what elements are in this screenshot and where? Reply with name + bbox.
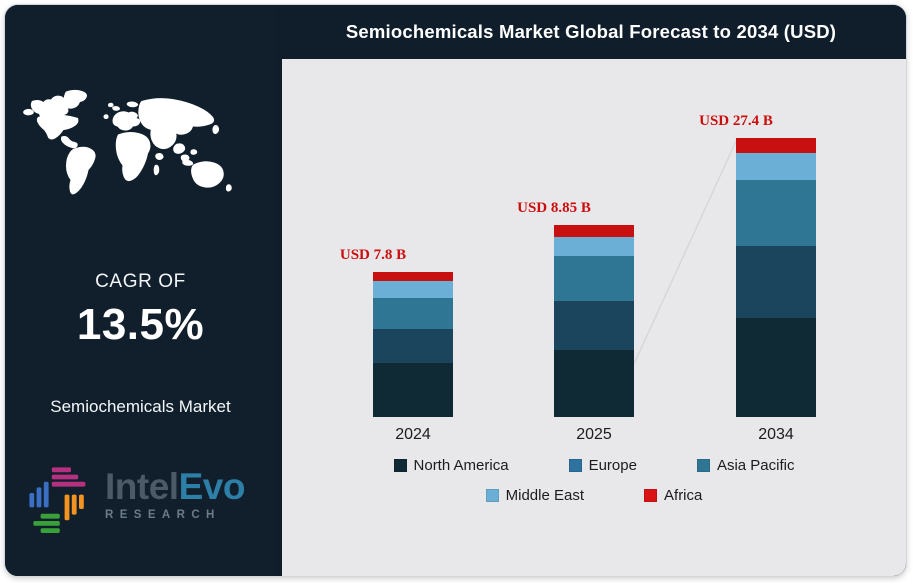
legend-swatch-middle-east [486, 489, 499, 502]
bar-segment-africa-2025[interactable] [554, 225, 634, 237]
bar-segment-africa-2034[interactable] [736, 138, 816, 153]
bar-segment-asia-pacific-2034[interactable] [736, 180, 816, 246]
bar-segment-north-america-2025[interactable] [554, 350, 634, 417]
legend-swatch-asia-pacific [697, 459, 710, 472]
intelevo-logo: IntelEvo RESEARCH [23, 455, 268, 547]
infographic-card: CAGR OF 13.5% Semiochemicals Market [4, 4, 907, 577]
logo-subtitle: RESEARCH [105, 509, 270, 521]
bar-total-label-2034: USD 27.4 B [666, 113, 806, 130]
legend-swatch-europe [569, 459, 582, 472]
legend-item-middle-east[interactable]: Middle East [486, 487, 584, 504]
chart-legend: North America Europe Asia Pacific Middle [282, 457, 906, 504]
legend-item-north-america[interactable]: North America [394, 457, 509, 474]
bar-segment-asia-pacific-2025[interactable] [554, 256, 634, 301]
cagr-value: 13.5% [5, 300, 276, 350]
bar-total-label-2025: USD 8.85 B [484, 200, 624, 217]
bar-2024[interactable] [373, 272, 453, 417]
x-axis-label-2025: 2025 [524, 426, 664, 444]
legend-item-africa[interactable]: Africa [644, 487, 702, 504]
logo-word-evo: Evo [179, 466, 245, 507]
page-title: Semiochemicals Market Global Forecast to… [276, 5, 906, 59]
bar-segment-europe-2024[interactable] [373, 329, 453, 363]
x-axis-label-2024: 2024 [343, 426, 483, 444]
legend-item-europe[interactable]: Europe [569, 457, 637, 474]
legend-label-europe: Europe [589, 457, 637, 474]
legend-swatch-africa [644, 489, 657, 502]
bar-segment-europe-2025[interactable] [554, 301, 634, 350]
bar-2034[interactable] [736, 138, 816, 417]
legend-label-asia-pacific: Asia Pacific [717, 457, 795, 474]
legend-item-asia-pacific[interactable]: Asia Pacific [697, 457, 795, 474]
bar-segment-middle-east-2025[interactable] [554, 237, 634, 256]
bar-segment-north-america-2034[interactable] [736, 318, 816, 417]
pinwheel-logo-mark-icon [23, 461, 103, 541]
logo-text: IntelEvo RESEARCH [105, 467, 270, 521]
bar-segment-north-america-2024[interactable] [373, 363, 453, 417]
logo-word-intel: Intel [105, 466, 179, 507]
world-map-icon [17, 71, 267, 219]
logo-wordmark: IntelEvo [105, 467, 270, 507]
legend-swatch-north-america [394, 459, 407, 472]
bar-segment-middle-east-2034[interactable] [736, 153, 816, 180]
bar-segment-europe-2034[interactable] [736, 246, 816, 318]
legend-label-africa: Africa [664, 487, 702, 504]
chart-panel: USD 7.8 B 2024 USD 8.85 B 2025 USD 27.4 … [282, 59, 906, 576]
legend-label-north-america: North America [414, 457, 509, 474]
stacked-bar-chart: USD 7.8 B 2024 USD 8.85 B 2025 USD 27.4 … [282, 59, 906, 576]
x-axis-label-2034: 2034 [706, 426, 846, 444]
legend-row-1: North America Europe Asia Pacific [282, 457, 906, 474]
cagr-caption: CAGR OF [5, 271, 276, 293]
bar-total-label-2024: USD 7.8 B [303, 247, 443, 264]
bar-segment-asia-pacific-2024[interactable] [373, 298, 453, 329]
legend-row-2: Middle East Africa [282, 487, 906, 504]
bar-segment-africa-2024[interactable] [373, 272, 453, 281]
bar-segment-middle-east-2024[interactable] [373, 281, 453, 298]
bar-2025[interactable] [554, 225, 634, 417]
market-name-label: Semiochemicals Market [5, 397, 276, 417]
legend-label-middle-east: Middle East [506, 487, 584, 504]
left-panel: CAGR OF 13.5% Semiochemicals Market [5, 5, 276, 576]
